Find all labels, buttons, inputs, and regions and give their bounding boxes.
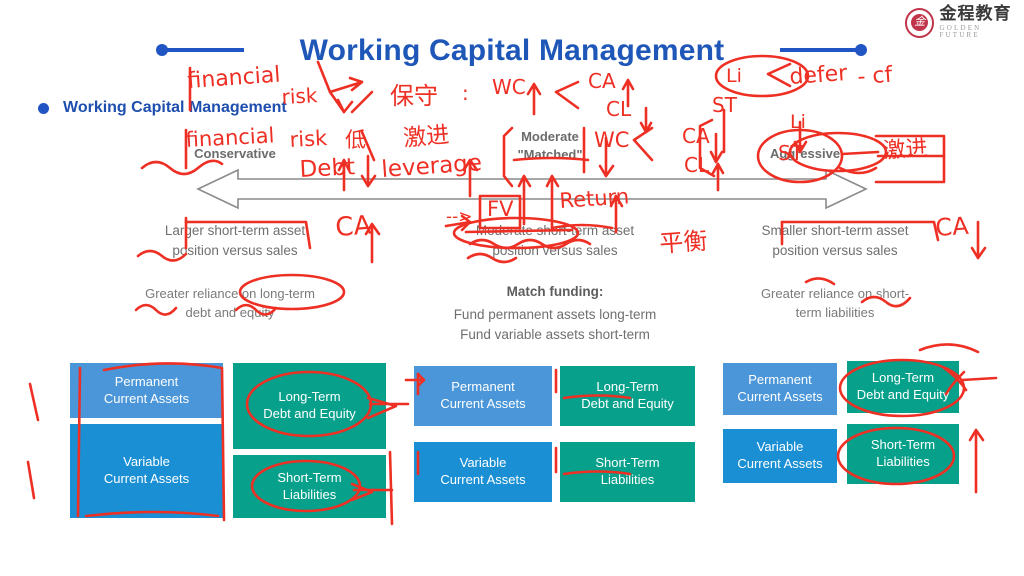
box-permanent-current-assets-3: Permanent Current Assets (723, 363, 837, 415)
description-aggressive-line2: position versus sales (720, 241, 950, 261)
match-funding-line2: Fund variable assets short-term (410, 325, 700, 345)
box-label-line1: Variable (757, 439, 804, 454)
box-label-line2: Liabilities (876, 454, 929, 469)
slide-canvas: 金 金程教育® GOLDEN FUTURE Working Capital Ma… (0, 0, 1024, 576)
ann-baoshou: 保守 (390, 82, 438, 110)
box-label-line2: Liabilities (601, 472, 654, 487)
funding-note-left-line1: Greater reliance on long-term (110, 285, 350, 304)
funding-note-center: Match funding: Fund permanent assets lon… (410, 284, 700, 344)
ann-di: 低 (345, 128, 366, 152)
box-long-term-debt-equity-1: Long-Term Debt and Equity (233, 363, 386, 449)
box-label-line1: Variable (460, 455, 507, 470)
box-label-line1: Short-Term (277, 470, 341, 485)
match-funding-line1: Fund permanent assets long-term (410, 305, 700, 325)
box-label-line1: Long-Term (872, 370, 934, 385)
ann-colon-1: : (462, 81, 469, 105)
funding-note-right-line2: term liabilities (715, 304, 955, 323)
box-label-line2: Debt and Equity (857, 387, 950, 402)
box-label-line1: Permanent (451, 379, 515, 394)
ann-wc-up: WC (492, 75, 526, 99)
bullet-dot-icon (38, 103, 49, 114)
box-label-line1: Permanent (115, 374, 179, 389)
title-rule-right (780, 48, 858, 52)
box-label-line1: Variable (123, 454, 170, 469)
box-label-line2: Debt and Equity (263, 406, 356, 421)
box-label-line2: Current Assets (440, 396, 525, 411)
ann-ca-up: CA (588, 69, 616, 93)
strategy-label-moderate: Moderate "Matched" (470, 128, 630, 163)
box-label-line1: Short-Term (871, 437, 935, 452)
match-funding-title: Match funding: (410, 284, 700, 299)
strategy-label-conservative: Conservative (150, 146, 320, 161)
double-arrow-icon (196, 168, 868, 210)
logo-chinese-name: 金程教育® (939, 6, 1024, 23)
description-aggressive: Smaller short-term asset position versus… (720, 221, 950, 262)
strategy-label-moderate-line1: Moderate (470, 128, 630, 146)
funding-note-right-line1: Greater reliance on short- (715, 285, 955, 304)
description-moderate-line2: position versus sales (440, 241, 670, 261)
funding-note-left: Greater reliance on long-term debt and e… (110, 285, 350, 323)
box-permanent-current-assets-2: Permanent Current Assets (414, 366, 552, 426)
box-label-line1: Short-Term (595, 455, 659, 470)
box-variable-current-assets-2: Variable Current Assets (414, 442, 552, 502)
title-rule-left (166, 48, 244, 52)
ann-st-1: ST (712, 93, 738, 117)
section-bullet-label: Working Capital Management (63, 99, 287, 117)
title-dot-left (156, 44, 168, 56)
ann-li-1: Li (726, 65, 742, 87)
description-conservative-line1: Larger short-term asset (120, 221, 350, 241)
ann-ca-dn-2: CA (682, 124, 710, 148)
description-conservative: Larger short-term asset position versus … (120, 221, 350, 262)
description-moderate-line1: Moderate short-term asset (440, 221, 670, 241)
box-short-term-liabilities-1: Short-Term Liabilities (233, 455, 386, 518)
ann-jijin: 激进 (402, 122, 450, 152)
description-aggressive-line1: Smaller short-term asset (720, 221, 950, 241)
box-short-term-liabilities-2: Short-Term Liabilities (560, 442, 695, 502)
box-short-term-liabilities-3: Short-Term Liabilities (847, 424, 959, 484)
box-long-term-debt-equity-3: Long-Term Debt and Equity (847, 361, 959, 413)
spectrum-double-arrow (196, 168, 868, 210)
strategy-label-moderate-line2: "Matched" (470, 146, 630, 164)
funding-note-right: Greater reliance on short- term liabilit… (715, 285, 955, 323)
funding-note-left-line2: debt and equity (110, 304, 350, 323)
ann-li-2: Li (790, 111, 806, 133)
box-label-line2: Current Assets (104, 471, 189, 486)
title-dot-right (855, 44, 867, 56)
box-label-line2: Current Assets (440, 472, 525, 487)
box-label-line2: Current Assets (104, 391, 189, 406)
box-variable-current-assets-3: Variable Current Assets (723, 429, 837, 483)
section-bullet: Working Capital Management (38, 99, 287, 117)
box-long-term-debt-equity-2: Long-Term Debt and Equity (560, 366, 695, 426)
box-permanent-current-assets-1: Permanent Current Assets (70, 363, 223, 418)
description-moderate: Moderate short-term asset position versu… (440, 221, 670, 262)
box-label-line2: Debt and Equity (581, 396, 674, 411)
ann-cl-dn: CL (606, 97, 632, 121)
logo-emblem-glyph: 金 (911, 14, 928, 31)
box-label-line1: Permanent (748, 372, 812, 387)
logo-emblem-icon: 金 (905, 8, 934, 38)
box-variable-current-assets-1: Variable Current Assets (70, 424, 223, 518)
box-label-line2: Current Assets (737, 389, 822, 404)
logo-chinese-text: 金程教育 (939, 4, 1011, 24)
strategy-label-aggressive: Aggressive (720, 146, 890, 161)
page-title: Working Capital Management (0, 34, 1024, 68)
box-label-line2: Current Assets (737, 456, 822, 471)
box-label-line1: Long-Term (278, 389, 340, 404)
box-label-line1: Long-Term (596, 379, 658, 394)
box-label-line2: Liabilities (283, 487, 336, 502)
description-conservative-line2: position versus sales (120, 241, 350, 261)
